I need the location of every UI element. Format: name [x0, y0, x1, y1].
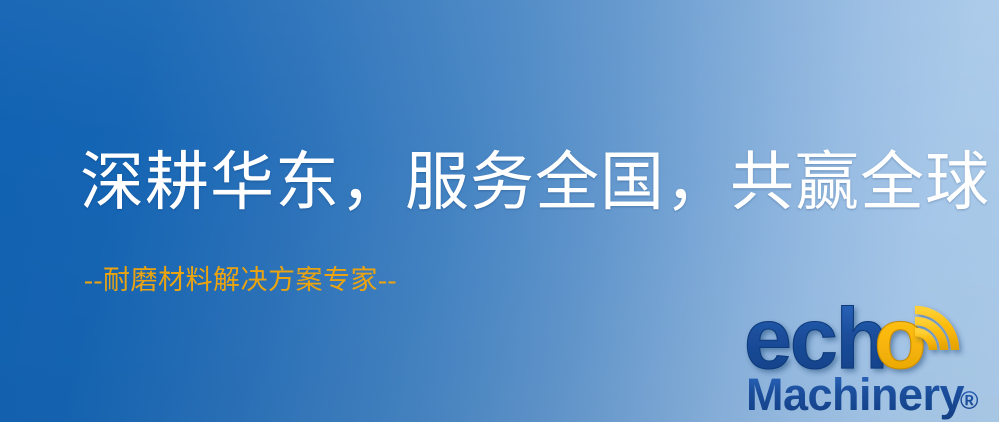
banner-headline: 深耕华东，服务全国，共赢全球: [80, 148, 990, 217]
logo-tagline-machinery: Machinery: [746, 369, 965, 420]
registered-trademark-icon: ®: [960, 387, 979, 415]
banner-subtitle: --耐磨材料解决方案专家--: [84, 266, 397, 296]
promotional-banner: 深耕华东，服务全国，共赢全球 --耐磨材料解决方案专家--: [0, 0, 999, 422]
echo-machinery-logo[interactable]: ech o Machinery ®: [744, 296, 996, 422]
